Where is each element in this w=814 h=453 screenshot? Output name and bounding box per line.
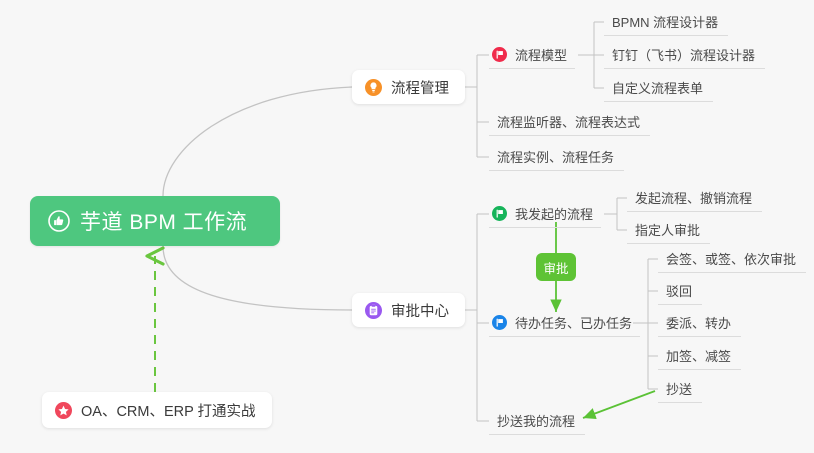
branch-node-approval-center[interactable]: 审批中心: [352, 293, 465, 327]
node-label: 待办任务、已办任务: [515, 313, 632, 332]
flag-icon: [492, 315, 507, 330]
leaf-reject[interactable]: 驳回: [658, 277, 702, 305]
node-label: 我发起的流程: [515, 204, 593, 223]
leaf-add-remove-sign[interactable]: 加签、减签: [658, 342, 741, 370]
mindmap-canvas: 芋道 BPM 工作流 流程管理 流程模型 BPMN 流程设计器 钉钉（飞书）流程…: [0, 0, 814, 453]
branch-label: 流程管理: [391, 77, 449, 98]
leaf-custom-process-form[interactable]: 自定义流程表单: [604, 74, 713, 102]
leaf-start-cancel-process[interactable]: 发起流程、撤销流程: [627, 184, 762, 212]
thumbs-up-icon: [48, 210, 70, 232]
clipboard-icon: [365, 302, 382, 319]
callout-node-integration[interactable]: OA、CRM、ERP 打通实战: [42, 392, 272, 428]
leaf-cc-to-me-processes[interactable]: 抄送我的流程: [489, 407, 585, 435]
flag-icon: [492, 47, 507, 62]
leaf-dingtalk-feishu-designer[interactable]: 钉钉（飞书）流程设计器: [604, 41, 765, 69]
lightbulb-icon: [365, 79, 382, 96]
leaf-process-listener-expression[interactable]: 流程监听器、流程表达式: [489, 108, 650, 136]
leaf-countersign-orsign-sequential[interactable]: 会签、或签、依次审批: [658, 245, 806, 273]
leaf-carbon-copy[interactable]: 抄送: [658, 375, 702, 403]
leaf-bpmn-designer[interactable]: BPMN 流程设计器: [604, 8, 728, 36]
callout-label: OA、CRM、ERP 打通实战: [81, 400, 256, 421]
node-label: 流程模型: [515, 45, 567, 64]
flag-icon: [492, 206, 507, 221]
approval-badge[interactable]: 审批: [536, 253, 576, 281]
leaf-process-instance-task[interactable]: 流程实例、流程任务: [489, 143, 624, 171]
branch-node-process-management[interactable]: 流程管理: [352, 70, 465, 104]
branch-label: 审批中心: [391, 300, 449, 321]
star-icon: [55, 402, 72, 419]
node-todo-done-tasks[interactable]: 待办任务、已办任务: [489, 309, 640, 337]
leaf-delegate-transfer[interactable]: 委派、转办: [658, 309, 741, 337]
node-process-model[interactable]: 流程模型: [489, 41, 575, 69]
root-label: 芋道 BPM 工作流: [80, 206, 247, 236]
root-node[interactable]: 芋道 BPM 工作流: [30, 196, 280, 246]
node-my-initiated-processes[interactable]: 我发起的流程: [489, 200, 601, 228]
leaf-assignee-approval[interactable]: 指定人审批: [627, 216, 710, 244]
